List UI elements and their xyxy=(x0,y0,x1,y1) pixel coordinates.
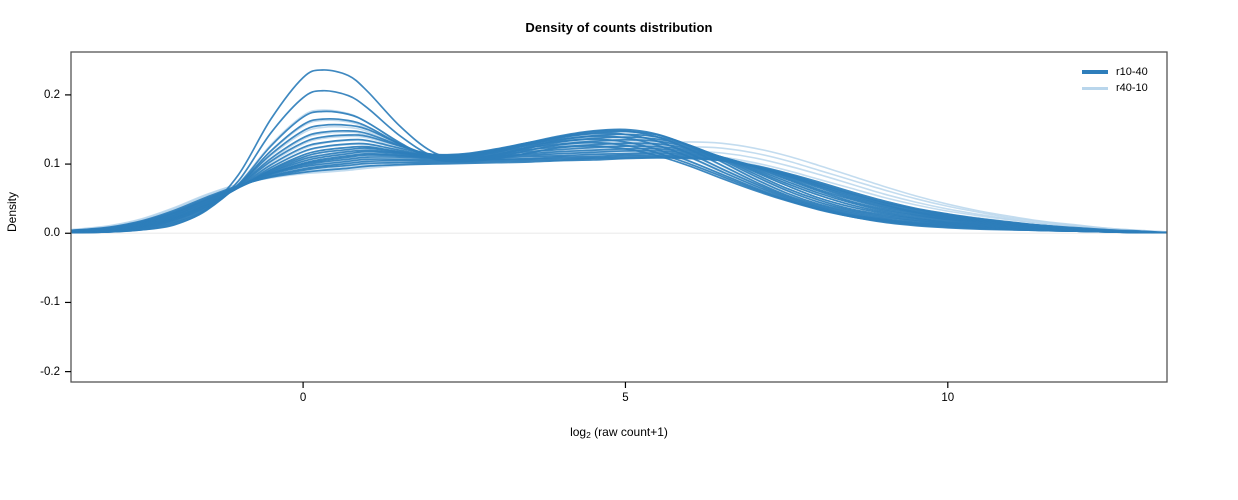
density-curve xyxy=(71,158,1167,233)
y-axis-label: Density xyxy=(5,172,19,252)
curves-group xyxy=(71,70,1167,233)
y-tick-label: 0.0 xyxy=(44,227,60,239)
x-axis-tick-labels: 0510 xyxy=(0,392,1238,412)
legend-item-r40-10[interactable]: r40-10 xyxy=(1082,80,1148,96)
density-curve xyxy=(71,110,1167,233)
x-tick-label: 5 xyxy=(622,392,628,404)
y-tick-label: -0.2 xyxy=(40,366,60,378)
density-curve xyxy=(71,149,1167,233)
legend: r10-40 r40-10 xyxy=(1082,62,1172,98)
x-axis-label-subscript: 2 xyxy=(586,430,591,440)
legend-label-r40-10: r40-10 xyxy=(1116,82,1148,94)
density-curve xyxy=(71,91,1167,233)
density-curve xyxy=(71,151,1167,232)
x-axis-label-rest: (raw count+1) xyxy=(591,425,668,439)
y-tick-label: 0.1 xyxy=(44,158,60,170)
y-tick-label: 0.2 xyxy=(44,89,60,101)
legend-label-r10-40: r10-40 xyxy=(1116,66,1148,78)
legend-swatch-r40-10 xyxy=(1082,87,1108,90)
x-axis-label-base: log xyxy=(570,425,586,439)
x-tick-label: 0 xyxy=(300,392,306,404)
legend-item-r10-40[interactable]: r10-40 xyxy=(1082,64,1148,80)
x-tick-label: 10 xyxy=(941,392,954,404)
legend-swatch-r10-40 xyxy=(1082,70,1108,74)
x-axis-label: log2 (raw count+1) xyxy=(0,425,1238,439)
y-tick-label: -0.1 xyxy=(40,296,60,308)
density-plot-figure: Density of counts distribution 0.20.10.0… xyxy=(0,0,1238,500)
